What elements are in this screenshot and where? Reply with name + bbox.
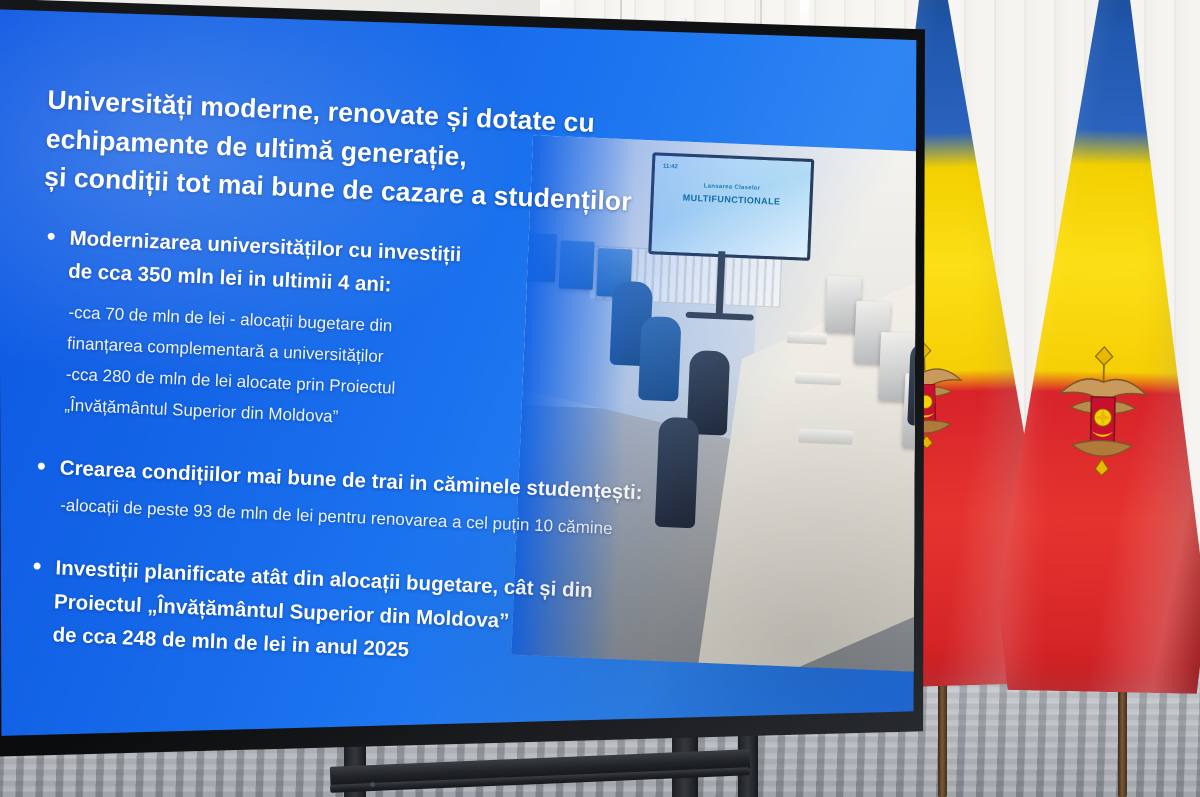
slide-bullet-list: Modernizarea universităților cu investiț… xyxy=(24,221,762,681)
tv-screen[interactable]: 11:42 Lansarea Claselor MULTIFUNCTIONALE xyxy=(0,0,946,762)
room-photograph: 11:42 Lansarea Claselor MULTIFUNCTIONALE xyxy=(0,0,1200,797)
bullet-sub: -cca 70 de mln de lei - alocații bugetar… xyxy=(34,297,759,451)
coat-of-arms-icon xyxy=(1045,331,1160,483)
bullet-main: Investiții planificate atât din alocații… xyxy=(24,551,748,681)
bullet-block: Modernizarea universităților cu investiț… xyxy=(34,221,762,452)
stand-screw-icon xyxy=(370,782,375,787)
slide-content: Universități moderne, renovate și dotate… xyxy=(0,0,945,762)
slide-title: Universități moderne, renovate și dotate… xyxy=(43,81,767,228)
moldova-flag xyxy=(995,0,1200,694)
bullet-block: Investiții planificate atât din alocații… xyxy=(24,551,748,681)
bullet-block: Crearea condițiilor mai bune de trai in … xyxy=(30,450,752,551)
television[interactable]: 11:42 Lansarea Claselor MULTIFUNCTIONALE xyxy=(0,0,946,762)
